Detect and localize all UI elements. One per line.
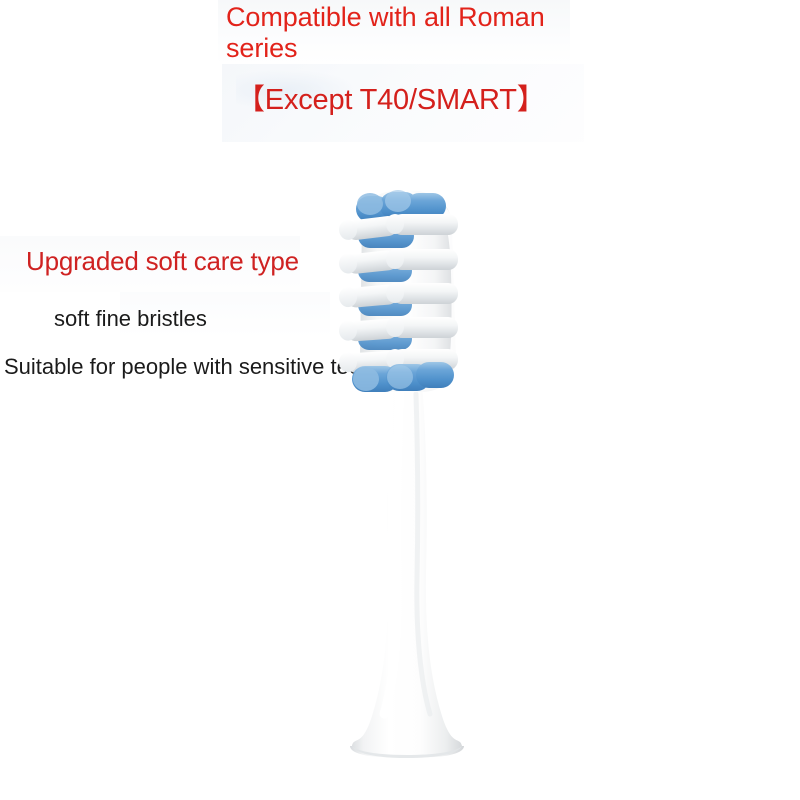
exception-note: 【Except T40/SMART】 — [236, 83, 546, 117]
toothbrush-head-illustration — [300, 180, 520, 780]
product-image-canvas: Compatible with all Roman series 【Except… — [0, 0, 800, 800]
feature-heading: Upgraded soft care type — [26, 246, 299, 277]
bristle-field — [338, 190, 458, 392]
compatibility-headline: Compatible with all Roman series — [226, 2, 586, 64]
bristle-row-blue-bottom — [352, 362, 454, 392]
feature-line-bristles: soft fine bristles — [54, 305, 207, 332]
toothbrush-handle — [350, 385, 464, 758]
